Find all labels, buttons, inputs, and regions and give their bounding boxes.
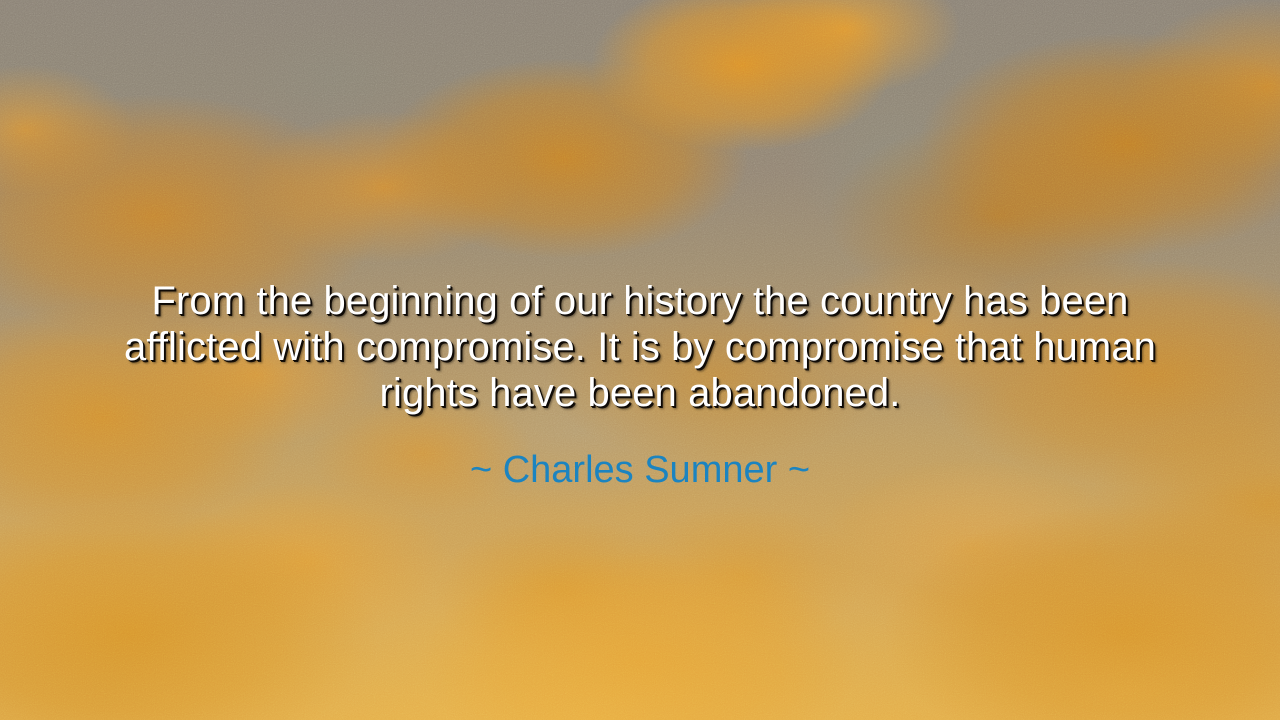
- quote-card: From the beginning of our history the co…: [0, 0, 1280, 720]
- text-overlay: From the beginning of our history the co…: [0, 0, 1280, 720]
- quote-attribution: ~ Charles Sumner ~: [470, 448, 810, 492]
- quote-line-2: afflicted with compromise. It is by comp…: [110, 324, 1170, 370]
- quote-block: From the beginning of our history the co…: [110, 278, 1170, 416]
- quote-line-1: From the beginning of our history the co…: [110, 278, 1170, 324]
- quote-line-3: rights have been abandoned.: [110, 370, 1170, 416]
